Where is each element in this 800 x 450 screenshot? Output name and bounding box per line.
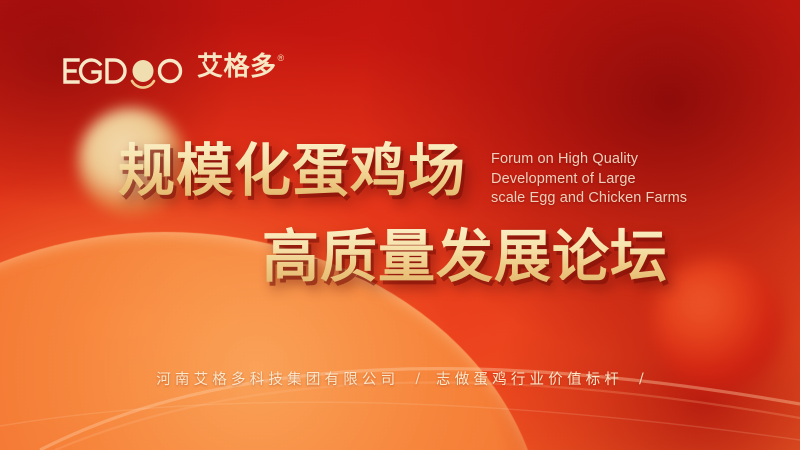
footer-strip: 河南艾格多科技集团有限公司 / 志做蛋鸡行业价值标杆 / [0, 368, 800, 389]
trademark-icon: ® [278, 53, 285, 63]
footer-separator-2: / [639, 371, 644, 387]
title-line-1: 规模化蛋鸡场 [118, 140, 466, 202]
title-english-line-1: Forum on High Quality [491, 150, 687, 170]
title-english-subtitle: Forum on High Quality Development of Lar… [491, 150, 687, 209]
brand-logo: 艾格多 ® [62, 52, 284, 92]
egdoo-logotype-icon [62, 52, 186, 92]
footer-separator-1: / [415, 371, 420, 387]
title-english-line-3: scale Egg and Chicken Farms [491, 189, 687, 209]
footer-company-name: 河南艾格多科技集团有限公司 [156, 368, 399, 389]
event-banner: 艾格多 ® 规模化蛋鸡场 高质量发展论坛 Forum on High Quali… [0, 0, 800, 450]
egg-circle-icon [133, 60, 154, 82]
title-line-2: 高质量发展论坛 [262, 226, 668, 288]
logo-wordmark [62, 52, 186, 92]
footer-slogan: 志做蛋鸡行业价值标杆 [436, 368, 623, 389]
title-english-line-2: Development of Large [491, 170, 687, 190]
logo-chinese-name: 艾格多 [197, 52, 277, 82]
